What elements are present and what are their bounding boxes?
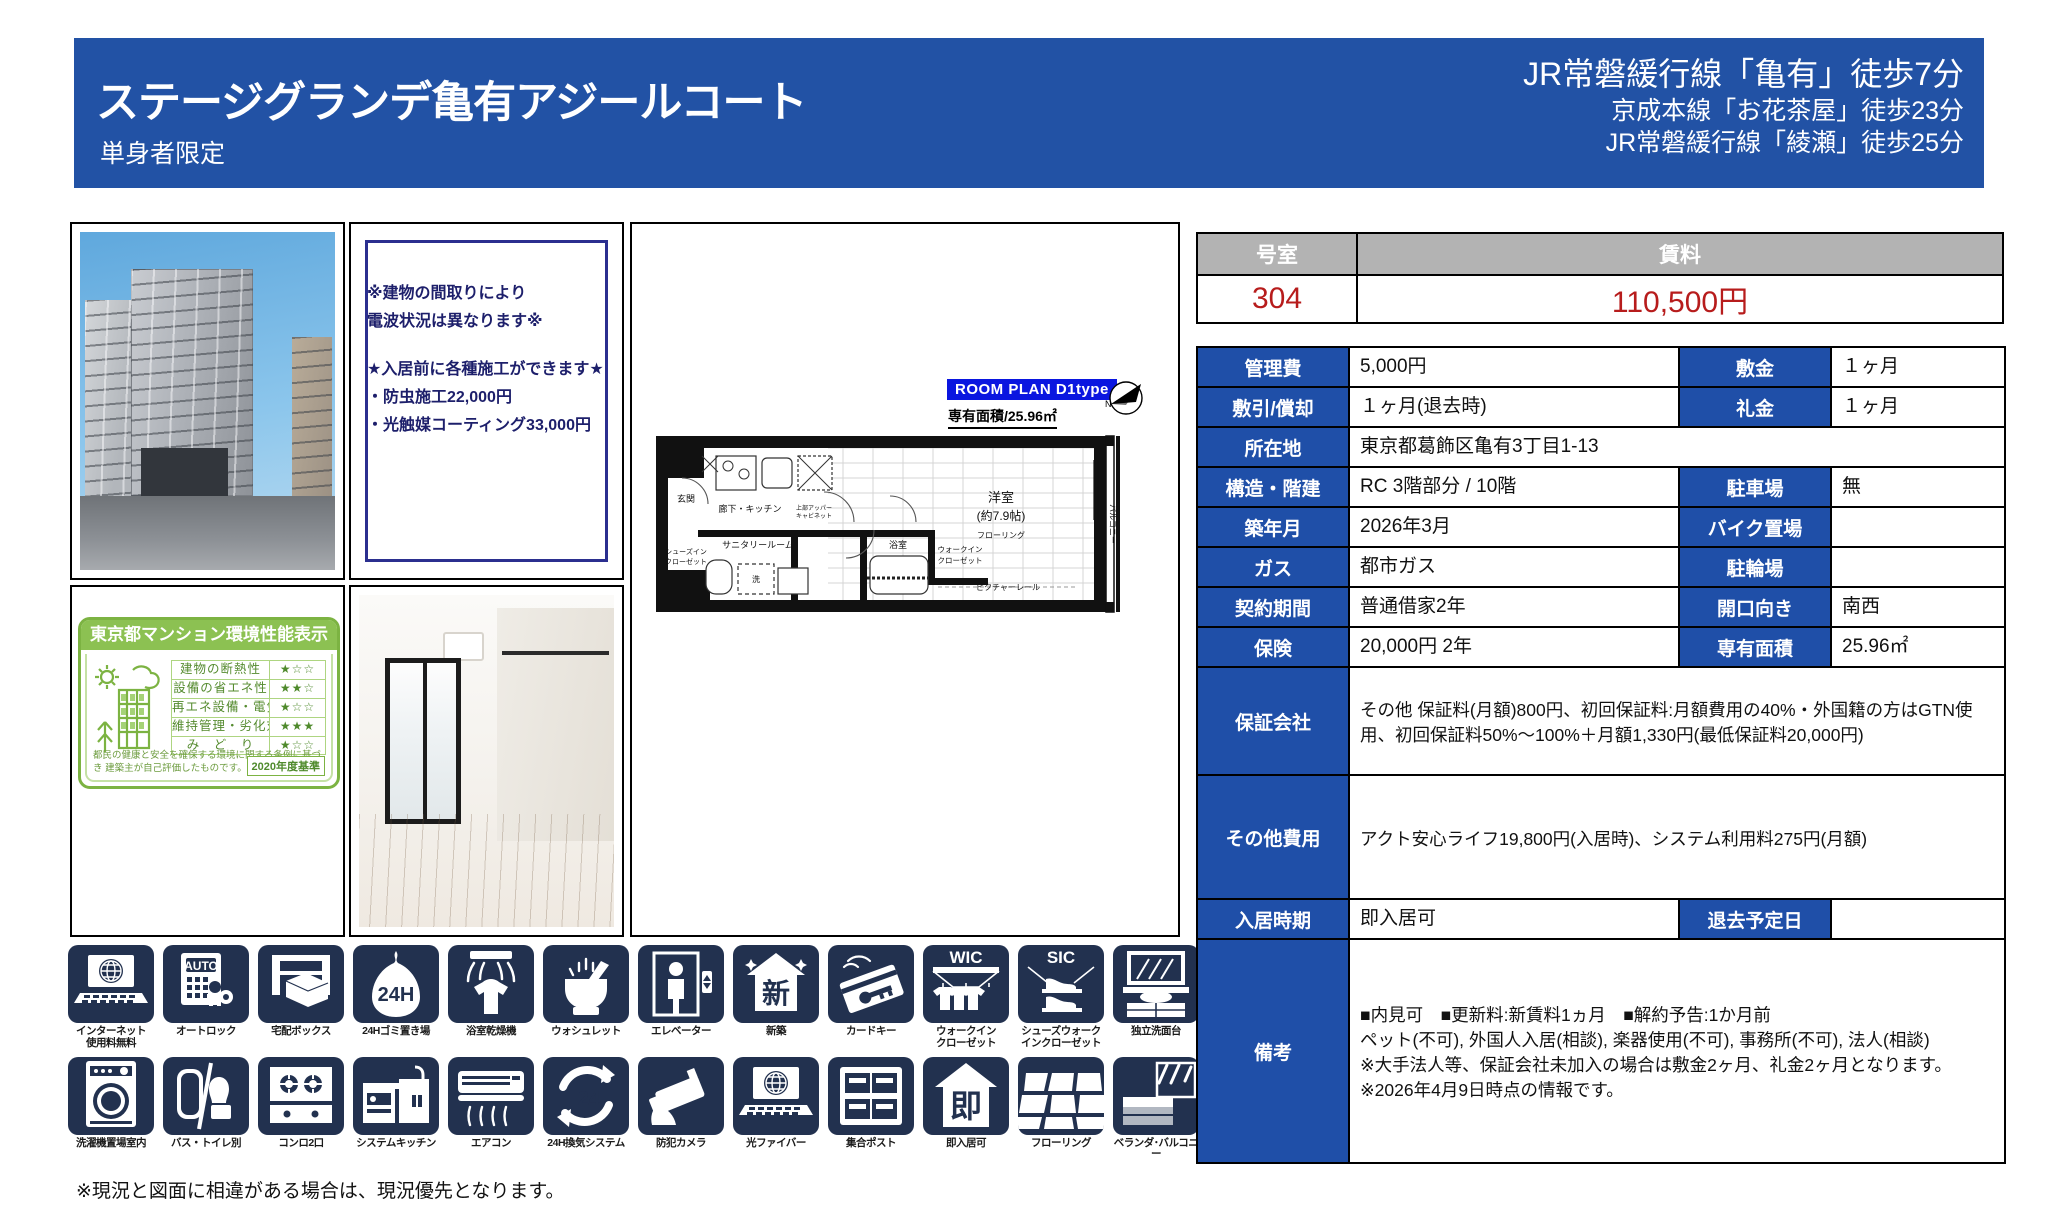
amenity-system-kitchen[interactable]: システムキッチン	[353, 1057, 439, 1162]
floor-plan-drawing: 玄関 廊下・キッチン 上部アッパー キャビネット シューズイン クローゼット サ…	[638, 430, 1176, 630]
eco-row-label: 建物の断熱性	[172, 661, 269, 679]
laptop-globe-icon	[68, 945, 154, 1023]
balcony-icon	[1113, 1057, 1199, 1135]
amenity-internet-free[interactable]: インターネット 使用料無料	[68, 945, 154, 1050]
parking-value: 無	[1831, 467, 2005, 507]
exclusive-area-label: 専有面積	[1679, 627, 1831, 667]
amenity-bath-toilet-separate[interactable]: バス・トイレ別	[163, 1057, 249, 1162]
amenity-label: 集合ポスト	[828, 1138, 914, 1150]
table-row: 保険 20,000円 2年 専有面積 25.96㎡	[1197, 627, 2005, 667]
amenity-label: 即入居可	[923, 1138, 1009, 1150]
immediate-movein-icon: 即	[923, 1057, 1009, 1135]
remarks-line-1: ■内見可 ■更新料:新賃料1ヵ月 ■解約予告:1か月前	[1360, 1003, 1994, 1028]
room-no-header: 号室	[1197, 233, 1357, 275]
key-money-label: 礼金	[1679, 387, 1831, 427]
table-row: 保証会社 その他 保証料(月額)800円、初回保証料:月額費用の40%・外国籍の…	[1197, 667, 2005, 775]
amenity-label: 宅配ボックス	[258, 1026, 344, 1038]
table-row: 入居時期 即入居可 退去予定日	[1197, 899, 2005, 939]
rent-header: 賃料	[1357, 233, 2003, 275]
contract-period-label: 契約期間	[1197, 587, 1349, 627]
svg-text:浴室: 浴室	[889, 539, 907, 550]
picture-rail	[502, 651, 609, 655]
property-details-table: 管理費 5,000円 敷金 １ヶ月 敷引/償却 １ヶ月(退去時) 礼金 １ヶ月 …	[1196, 346, 2006, 1164]
eco-row: 設備の省エネ性 ★★☆	[171, 679, 326, 698]
svg-text:キャビネット: キャビネット	[796, 512, 832, 520]
access-line-1: JR常磐緩行線「亀有」徒歩7分	[1523, 54, 1964, 95]
svg-text:シューズイン: シューズイン	[665, 547, 707, 556]
remarks-label: 備考	[1197, 939, 1349, 1163]
svg-text:WIC: WIC	[949, 948, 982, 967]
delivery-box-icon	[258, 945, 344, 1023]
auto-lock-icon: AUTO	[163, 945, 249, 1023]
svg-text:(約7.9帖): (約7.9帖)	[977, 508, 1026, 523]
deposit-label: 敷金	[1679, 347, 1831, 387]
elevator-icon	[638, 945, 724, 1023]
building-entrance	[141, 448, 228, 495]
amenity-vanity[interactable]: 独立洗面台	[1113, 945, 1199, 1050]
remarks-line-2: ペット(不可), 外国人入居(相談), 楽器使用(不可), 事務所(不可), 法…	[1360, 1028, 1994, 1053]
table-row: 契約期間 普通借家2年 開口向き 南西	[1197, 587, 2005, 627]
address-value: 東京都葛飾区亀有3丁目1-13	[1349, 427, 2005, 467]
amenity-shoes-in-closet[interactable]: SIC シューズウォーク インクローゼット	[1018, 945, 1104, 1050]
exterior-photo-cell	[70, 222, 345, 580]
eco-row-stars: ★☆☆	[269, 661, 325, 679]
amenity-walk-in-closet[interactable]: WIC ウォークイン クローゼット	[923, 945, 1009, 1050]
management-fee-value: 5,000円	[1349, 347, 1679, 387]
page-header: ステージグランデ亀有アジールコート 単身者限定 JR常磐緩行線「亀有」徒歩7分 …	[74, 38, 1984, 188]
table-row: 築年月 2026年3月 バイク置場	[1197, 507, 2005, 547]
notice-line-2: 電波状況は異なります※	[367, 308, 614, 336]
amenity-delivery-box[interactable]: 宅配ボックス	[258, 945, 344, 1050]
movein-date-value: 即入居可	[1349, 899, 1679, 939]
contract-period-value: 普通借家2年	[1349, 587, 1679, 627]
eco-row-label: 維持管理・劣化対策	[172, 718, 269, 736]
eco-row: 維持管理・劣化対策 ★★★	[171, 717, 326, 736]
notice-line-5: ・光触媒コーティング33,000円	[367, 412, 614, 440]
amenity-label: エレベーター	[638, 1026, 724, 1038]
amenity-24h-ventilation[interactable]: 24 24H換気システム	[543, 1057, 629, 1162]
notice-line-3: ★入居前に各種施工ができます★	[367, 356, 614, 384]
bath-dryer-icon	[448, 945, 534, 1023]
amenity-elevator[interactable]: エレベーター	[638, 945, 724, 1050]
footnote-disclaimer: ※現況と図面に相違がある場合は、現況優先となります。	[76, 1176, 564, 1203]
amenity-bath-dryer[interactable]: 浴室乾燥機	[448, 945, 534, 1050]
key-money-value: １ヶ月	[1831, 387, 2005, 427]
amenity-label: システムキッチン	[353, 1138, 439, 1150]
eco-row-stars: ★☆☆	[269, 699, 325, 717]
amenity-row-2: 洗濯機置場室内 バス・トイレ別	[68, 1057, 1183, 1162]
bike-parking-label: バイク置場	[1679, 507, 1831, 547]
amenity-label: フローリング	[1018, 1138, 1104, 1150]
svg-text:24H: 24H	[378, 984, 415, 1006]
eco-row-stars: ★★★	[269, 718, 325, 736]
parking-label: 駐車場	[1679, 467, 1831, 507]
remarks-line-3: ※大手法人等、保証会社未加入の場合は敷金2ヶ月、礼金2ヶ月となります。	[1360, 1053, 1994, 1078]
amenity-immediate-movein[interactable]: 即 即入居可	[923, 1057, 1009, 1162]
deposit-value: １ヶ月	[1831, 347, 2005, 387]
guarantor-label: 保証会社	[1197, 667, 1349, 775]
facing-value: 南西	[1831, 587, 2005, 627]
property-listing-sheet: ステージグランデ亀有アジールコート 単身者限定 JR常磐緩行線「亀有」徒歩7分 …	[0, 0, 2056, 1220]
bike-parking-value	[1831, 507, 2005, 547]
security-camera-icon	[638, 1057, 724, 1135]
remarks-value: ■内見可 ■更新料:新賃料1ヵ月 ■解約予告:1か月前 ペット(不可), 外国人…	[1349, 939, 2005, 1163]
amenity-label: ベランダ･バルコニー	[1113, 1138, 1199, 1162]
room-plan-label: ROOM PLAN D1type	[947, 379, 1117, 400]
svg-text:N: N	[1105, 399, 1112, 409]
eco-row-label: 設備の省エネ性	[172, 680, 269, 698]
management-fee-label: 管理費	[1197, 347, 1349, 387]
other-costs-value: アクト安心ライフ19,800円(入居時)、システム利用料275円(月額)	[1349, 775, 2005, 899]
two-burner-icon	[258, 1057, 344, 1135]
table-row: その他費用 アクト安心ライフ19,800円(入居時)、システム利用料275円(月…	[1197, 775, 2005, 899]
amenity-label: インターネット 使用料無料	[68, 1026, 154, 1050]
other-costs-label: その他費用	[1197, 775, 1349, 899]
amenity-security-camera[interactable]: 防犯カメラ	[638, 1057, 724, 1162]
structure-label: 構造・階建	[1197, 467, 1349, 507]
amenity-label: カードキー	[828, 1026, 914, 1038]
svg-text:洗: 洗	[752, 574, 760, 584]
amenity-balcony[interactable]: ベランダ･バルコニー	[1113, 1057, 1199, 1162]
property-subtitle: 単身者限定	[100, 134, 225, 170]
aircon-icon	[448, 1057, 534, 1135]
svg-text:SIC: SIC	[1047, 948, 1075, 967]
amenity-label: 防犯カメラ	[638, 1138, 724, 1150]
svg-text:ピクチャーレール: ピクチャーレール	[976, 583, 1040, 592]
amenity-label: オートロック	[163, 1026, 249, 1038]
amenity-label: ウォークイン クローゼット	[923, 1026, 1009, 1050]
svg-text:廊下・キッチン: 廊下・キッチン	[718, 503, 781, 514]
balcony-window	[385, 658, 462, 824]
remarks-line-4: ※2026年4月9日時点の情報です。	[1360, 1078, 1994, 1103]
gas-label: ガス	[1197, 547, 1349, 587]
structure-value: RC 3階部分 / 10階	[1349, 467, 1679, 507]
amenity-label: ウォシュレット	[543, 1026, 629, 1038]
svg-text:バルコニー: バルコニー	[1108, 504, 1117, 544]
air-conditioner	[443, 632, 484, 662]
svg-text:24: 24	[578, 1088, 601, 1110]
amenity-mailbox[interactable]: 集合ポスト	[828, 1057, 914, 1162]
movein-date-label: 入居時期	[1197, 899, 1349, 939]
street	[80, 496, 335, 570]
moveout-date-label: 退去予定日	[1679, 899, 1831, 939]
table-row: 備考 ■内見可 ■更新料:新賃料1ヵ月 ■解約予告:1か月前 ペット(不可), …	[1197, 939, 2005, 1163]
eco-label-title: 東京都マンション環境性能表示	[81, 620, 337, 650]
guarantor-value: その他 保証料(月額)800円、初回保証料:月額費用の40%・外国籍の方はGTN…	[1349, 667, 2005, 775]
wic-icon: WIC	[923, 945, 1009, 1023]
table-row: 構造・階建 RC 3階部分 / 10階 駐車場 無	[1197, 467, 2005, 507]
svg-text:サニタリールーム: サニタリールーム	[722, 540, 794, 550]
mailbox-icon	[828, 1057, 914, 1135]
insurance-value: 20,000円 2年	[1349, 627, 1679, 667]
address-label: 所在地	[1197, 427, 1349, 467]
eco-row: 建物の断熱性 ★☆☆	[171, 660, 326, 679]
rent-summary-table: 号室 賃料 304 110,500円	[1196, 232, 2004, 324]
svg-text:クローゼット: クローゼット	[665, 557, 707, 566]
wood-flooring	[359, 814, 614, 927]
notice-line-1: ※建物の間取りにより	[367, 280, 614, 308]
new-build-icon: 新	[733, 945, 819, 1023]
amenity-new-build[interactable]: 新 新築	[733, 945, 819, 1050]
eco-rating-table: 建物の断熱性 ★☆☆ 設備の省エネ性 ★★☆ 再エネ設備・電気 ★☆☆ 維持	[171, 660, 326, 755]
washer-indoor-icon	[68, 1057, 154, 1135]
amenity-24h-trash[interactable]: 24H 24Hゴミ置き場	[353, 945, 439, 1050]
amenity-aircon[interactable]: エアコン	[448, 1057, 534, 1162]
notice-cell: ※建物の間取りにより 電波状況は異なります※ ★入居前に各種施工ができます★ ・…	[349, 222, 624, 580]
rent-header-row: 号室 賃料	[1197, 233, 2003, 275]
svg-text:クローゼット: クローゼット	[938, 555, 983, 565]
fiber-optic-icon	[733, 1057, 819, 1135]
exclusive-area-value: 25.96㎡	[1831, 627, 2005, 667]
built-date-label: 築年月	[1197, 507, 1349, 547]
sic-icon: SIC	[1018, 945, 1104, 1023]
svg-text:即: 即	[950, 1087, 982, 1125]
system-kitchen-icon	[353, 1057, 439, 1135]
amenity-label: 洗濯機置場室内	[68, 1138, 154, 1150]
built-date-value: 2026年3月	[1349, 507, 1679, 547]
interior-room-photo	[359, 595, 614, 927]
table-row: 管理費 5,000円 敷金 １ヶ月	[1197, 347, 2005, 387]
moveout-date-value	[1831, 899, 2005, 939]
insurance-label: 保険	[1197, 627, 1349, 667]
svg-text:洋室: 洋室	[988, 490, 1014, 505]
amenity-washer-indoor[interactable]: 洗濯機置場室内	[68, 1057, 154, 1162]
amenity-fiber-optic[interactable]: 光ファイバー	[733, 1057, 819, 1162]
exterior-photo	[80, 232, 335, 570]
amenity-label: 浴室乾燥機	[448, 1026, 534, 1038]
card-key-icon	[828, 945, 914, 1023]
room-no-value: 304	[1197, 275, 1357, 323]
bicycle-parking-value	[1831, 547, 2005, 587]
eco-standard-badge: 2020年度基準	[247, 756, 325, 776]
amenity-label: 24Hゴミ置き場	[353, 1026, 439, 1038]
washlet-icon	[543, 945, 629, 1023]
eco-row-label: 再エネ設備・電気	[172, 699, 269, 717]
eco-row: 再エネ設備・電気 ★☆☆	[171, 698, 326, 717]
access-line-2: 京成本線「お花茶屋」徒歩23分	[1523, 95, 1964, 127]
bath-toilet-sep-icon	[163, 1057, 249, 1135]
amortization-value: １ヶ月(退去時)	[1349, 387, 1679, 427]
amenity-row-1: インターネット 使用料無料 AUTO	[68, 945, 1183, 1050]
amortization-label: 敷引/償却	[1197, 387, 1349, 427]
table-row: 所在地 東京都葛飾区亀有3丁目1-13	[1197, 427, 2005, 467]
amenity-label: 独立洗面台	[1113, 1026, 1199, 1038]
interior-photo-cell	[349, 585, 624, 937]
notice-text: ※建物の間取りにより 電波状況は異なります※ ★入居前に各種施工ができます★ ・…	[367, 280, 614, 440]
amenity-flooring[interactable]: フローリング	[1018, 1057, 1104, 1162]
eco-building-tree-icon	[93, 660, 167, 756]
amenity-label: 24H換気システム	[543, 1138, 629, 1150]
table-row: ガス 都市ガス 駐輪場	[1197, 547, 2005, 587]
trash-24h-icon: 24H	[353, 945, 439, 1023]
station-access: JR常磐緩行線「亀有」徒歩7分 京成本線「お花茶屋」徒歩23分 JR常磐緩行線「…	[1523, 54, 1964, 159]
room-accent-wall	[497, 608, 614, 840]
flooring-icon	[1018, 1057, 1104, 1135]
svg-text:ウォークイン: ウォークイン	[938, 545, 983, 554]
amenity-card-key[interactable]: カードキー	[828, 945, 914, 1050]
amenity-auto-lock[interactable]: AUTO オートロック	[163, 945, 249, 1050]
floor-plan-area: 専有面積/25.96㎡	[948, 406, 1057, 429]
eco-row-stars: ★★☆	[269, 680, 325, 698]
amenity-label: エアコン	[448, 1138, 534, 1150]
eco-label-cell: 東京都マンション環境性能表示	[70, 585, 345, 937]
access-line-3: JR常磐緩行線「綾瀬」徒歩25分	[1523, 127, 1964, 159]
amenity-label: 光ファイバー	[733, 1138, 819, 1150]
floor-plan-cell: ROOM PLAN D1type 専有面積/25.96㎡ N	[630, 222, 1180, 937]
table-row: 敷引/償却 １ヶ月(退去時) 礼金 １ヶ月	[1197, 387, 2005, 427]
amenity-icons: インターネット 使用料無料 AUTO	[68, 945, 1183, 1168]
svg-text:フローリング: フローリング	[977, 530, 1025, 540]
svg-text:上部アッパー: 上部アッパー	[796, 504, 832, 512]
facing-label: 開口向き	[1679, 587, 1831, 627]
bicycle-parking-label: 駐輪場	[1679, 547, 1831, 587]
svg-text:AUTO: AUTO	[184, 959, 218, 973]
amenity-label: 新築	[733, 1026, 819, 1038]
gas-value: 都市ガス	[1349, 547, 1679, 587]
vanity-icon	[1113, 945, 1199, 1023]
amenity-washlet[interactable]: ウォシュレット	[543, 945, 629, 1050]
rent-value: 110,500円	[1357, 275, 2003, 323]
adjacent-building-right	[292, 337, 333, 496]
tokyo-eco-performance-label: 東京都マンション環境性能表示	[78, 617, 340, 789]
amenity-two-burner-stove[interactable]: コンロ2口	[258, 1057, 344, 1162]
amenity-label: コンロ2口	[258, 1138, 344, 1150]
compass-north-icon: N	[1100, 376, 1148, 424]
svg-text:新: 新	[762, 977, 790, 1010]
property-title: ステージグランデ亀有アジールコート	[96, 68, 807, 130]
svg-text:玄関: 玄関	[677, 493, 695, 504]
rent-value-row: 304 110,500円	[1197, 275, 2003, 323]
vent-24h-icon: 24	[543, 1057, 629, 1135]
amenity-label: シューズウォーク インクローゼット	[1018, 1026, 1104, 1050]
notice-line-4: ・防虫施工22,000円	[367, 384, 614, 412]
amenity-label: バス・トイレ別	[163, 1138, 249, 1150]
